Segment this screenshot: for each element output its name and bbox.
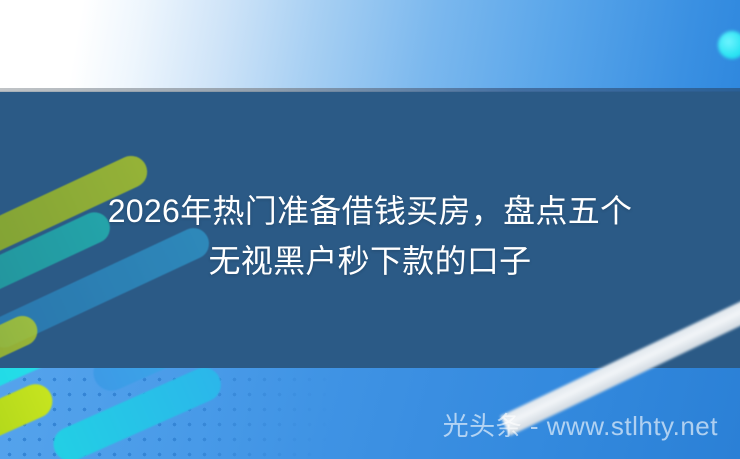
- site-watermark: 光头条 - www.stlhty.net: [0, 409, 740, 443]
- sky-gradient-top-band: [0, 0, 740, 91]
- cover-image-canvas: 2026年热门准备借钱买房，盘点五个 无视黑户秒下款的口子 光头条 - www.…: [0, 0, 740, 459]
- page-title: 2026年热门准备借钱买房，盘点五个 无视黑户秒下款的口子: [0, 186, 740, 286]
- circle-dot-icon: [718, 31, 740, 59]
